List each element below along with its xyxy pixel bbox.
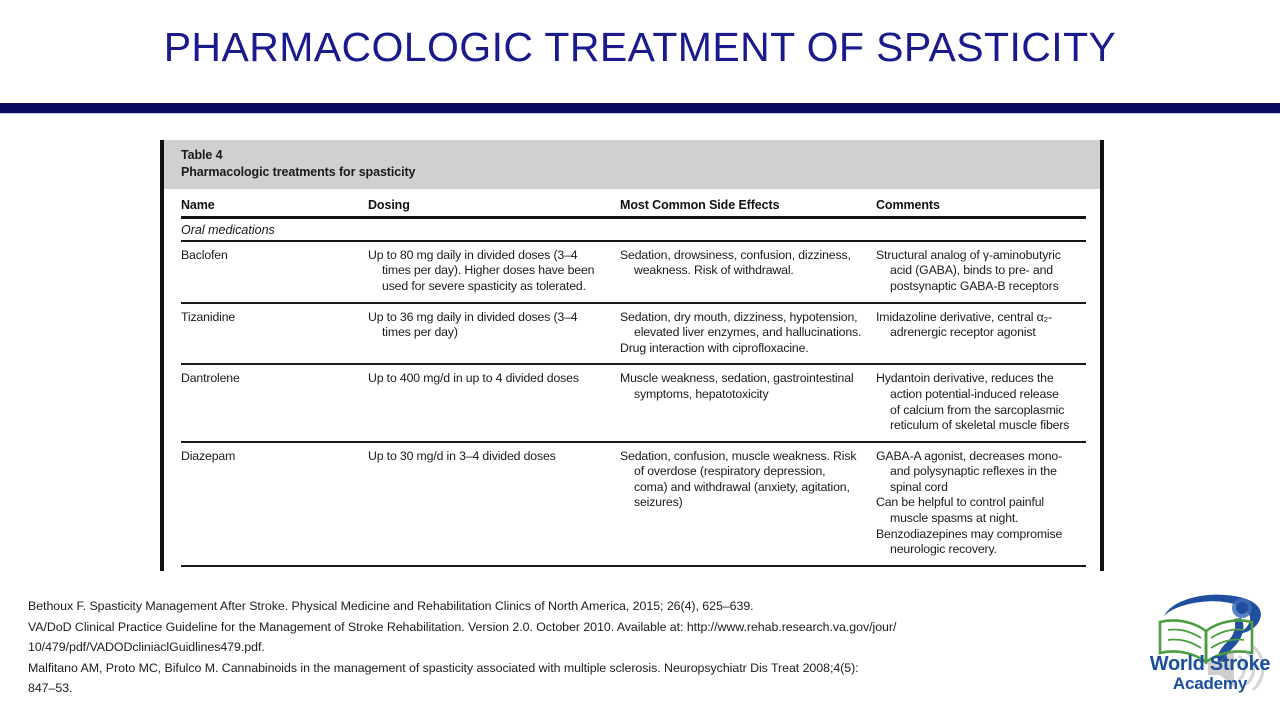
- pharmacologic-treatments-table: Table 4 Pharmacologic treatments for spa…: [160, 140, 1104, 571]
- table-column-headers: Name Dosing Most Common Side Effects Com…: [181, 189, 1086, 219]
- cell-dosing: Up to 36 mg daily in divided doses (3–4 …: [368, 310, 620, 357]
- cell-side-effects: Muscle weakness, sedation, gastrointesti…: [620, 371, 876, 433]
- table-row: Dantrolene Up to 400 mg/d in up to 4 div…: [181, 365, 1086, 442]
- column-header-dosing: Dosing: [368, 198, 620, 212]
- cell-dosing: Up to 30 mg/d in 3–4 divided doses: [368, 449, 620, 558]
- citation-2: VA/DoD Clinical Practice Guideline for t…: [28, 617, 1088, 658]
- table-caption: Table 4 Pharmacologic treatments for spa…: [164, 140, 1100, 189]
- citation-1: Bethoux F. Spasticity Management After S…: [28, 596, 1088, 617]
- citation-3: Malfitano AM, Proto MC, Bifulco M. Canna…: [28, 658, 1088, 699]
- column-header-side-effects: Most Common Side Effects: [620, 198, 876, 212]
- table-caption-text: Pharmacologic treatments for spasticity: [181, 164, 1083, 181]
- cell-side-effects: Sedation, confusion, muscle weakness. Ri…: [620, 449, 876, 558]
- cell-dosing: Up to 400 mg/d in up to 4 divided doses: [368, 371, 620, 433]
- logo-wordmark: World Stroke Academy: [1146, 654, 1274, 693]
- page-title: PHARMACOLOGIC TREATMENT OF SPASTICITY: [0, 24, 1280, 71]
- cell-side-effects: Sedation, dry mouth, dizziness, hypotens…: [620, 310, 876, 357]
- column-header-name: Name: [181, 198, 368, 212]
- cell-name: Tizanidine: [181, 310, 368, 357]
- table-row: Baclofen Up to 80 mg daily in divided do…: [181, 242, 1086, 304]
- cell-side-effects: Sedation, drowsiness, confusion, dizzine…: [620, 248, 876, 295]
- cell-dosing: Up to 80 mg daily in divided doses (3–4 …: [368, 248, 620, 295]
- column-header-comments: Comments: [876, 198, 1086, 212]
- cell-name: Baclofen: [181, 248, 368, 295]
- title-divider-rule: [0, 101, 1280, 114]
- table-label: Table 4: [181, 147, 1083, 164]
- citations-block: Bethoux F. Spasticity Management After S…: [28, 596, 1088, 699]
- logo-line-1: World Stroke: [1146, 654, 1274, 675]
- logo-line-2: Academy: [1146, 675, 1274, 693]
- table-section-heading-oral-medications: Oral medications: [181, 219, 1086, 242]
- cell-comments: GABA-A agonist, decreases mono- and poly…: [876, 449, 1086, 558]
- cell-name: Dantrolene: [181, 371, 368, 433]
- cell-comments: Structural analog of γ-aminobutyric acid…: [876, 248, 1086, 295]
- table-row: Tizanidine Up to 36 mg daily in divided …: [181, 304, 1086, 366]
- cell-comments: Hydantoin derivative, reduces the action…: [876, 371, 1086, 433]
- cell-name: Diazepam: [181, 449, 368, 558]
- table-row: Diazepam Up to 30 mg/d in 3–4 divided do…: [181, 443, 1086, 567]
- world-stroke-academy-logo: World Stroke Academy: [1146, 592, 1274, 718]
- cell-comments: Imidazoline derivative, central α₂-adren…: [876, 310, 1086, 357]
